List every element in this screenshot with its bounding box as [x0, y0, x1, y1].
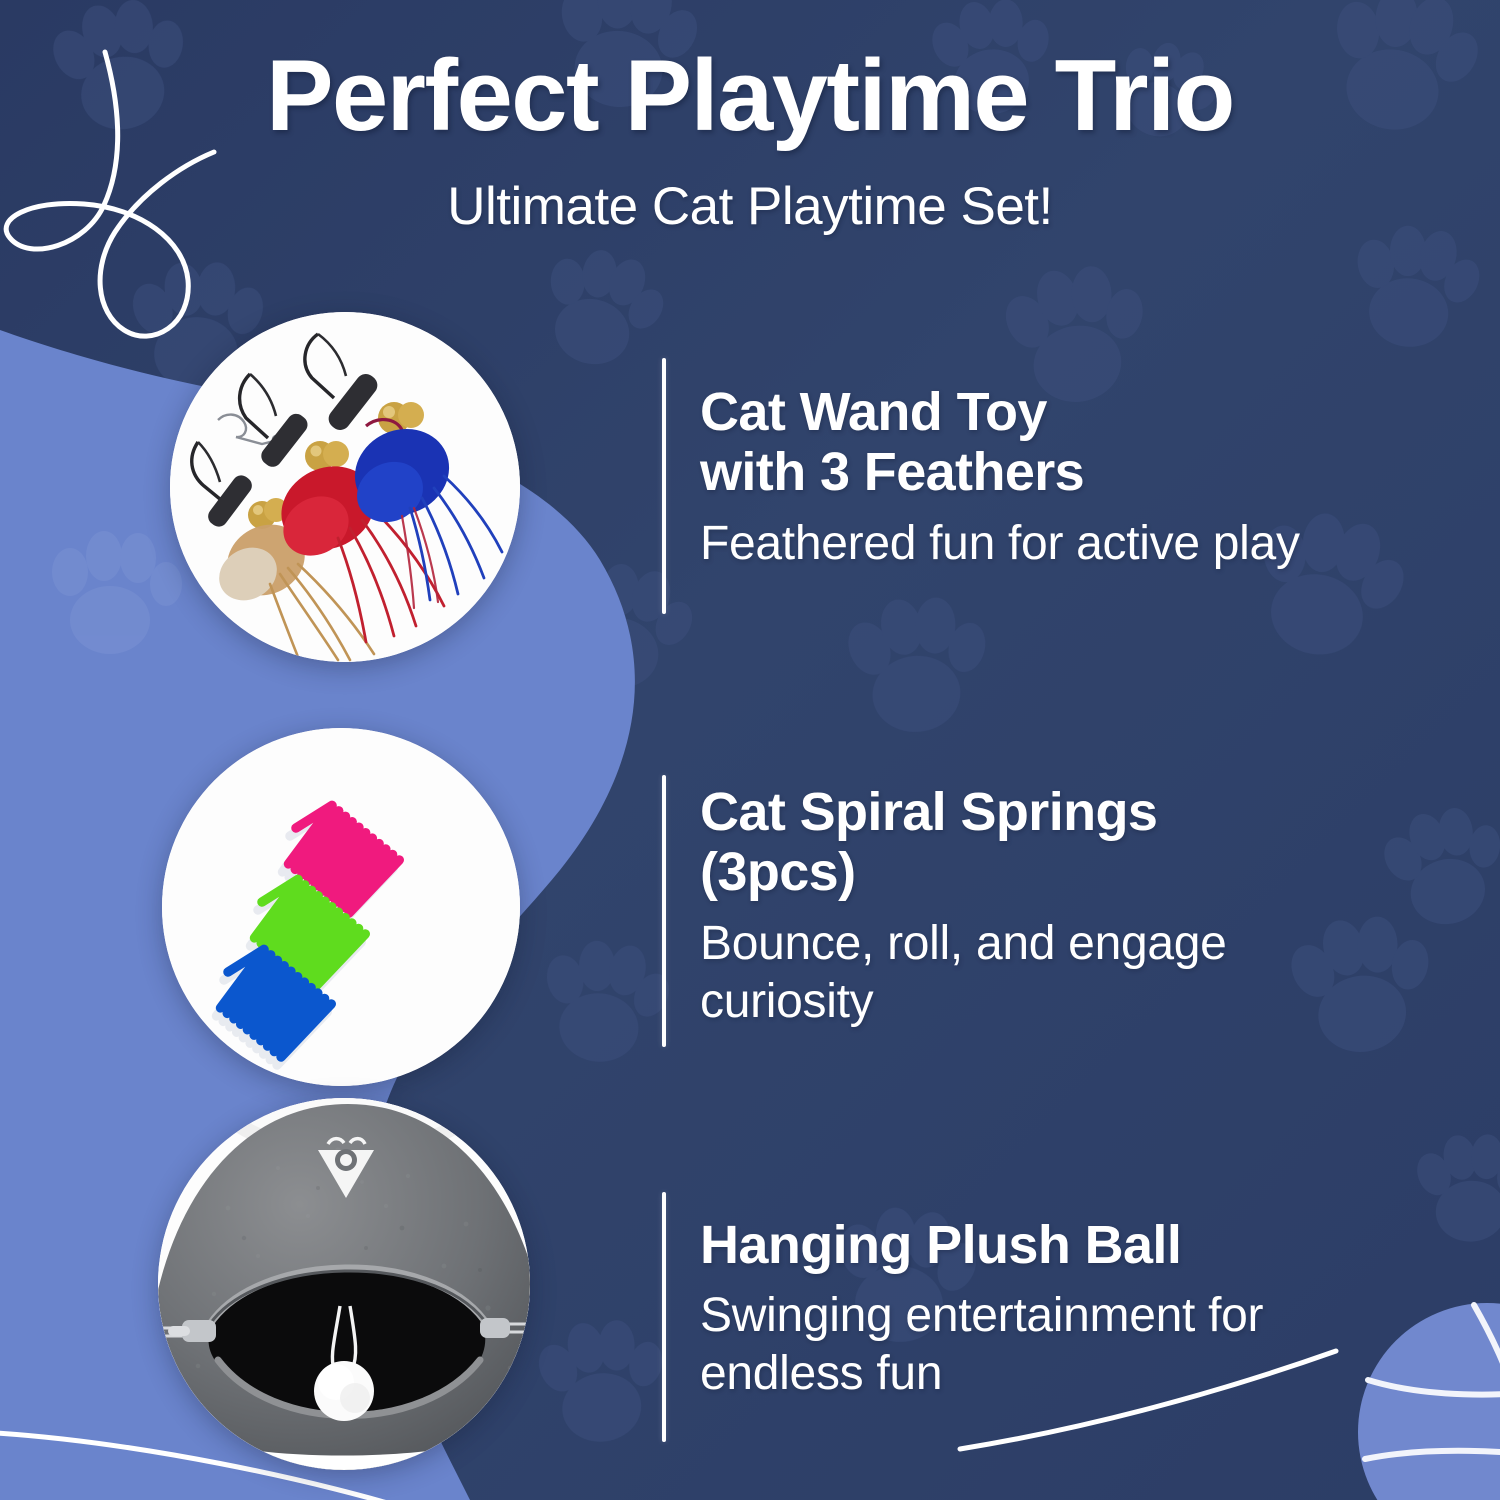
feature-description: Feathered fun for active play: [700, 503, 1300, 573]
feature-divider-3: [662, 1192, 666, 1442]
page-title: Perfect Playtime Trio: [0, 0, 1500, 147]
feature-title-line-1: Cat Spiral Springs: [700, 782, 1300, 842]
feature-photo-cat-wand-toy: [170, 312, 520, 662]
feature-title-line-2: with 3 Feathers: [700, 442, 1300, 502]
feature-title-line-1: Cat Wand Toy: [700, 382, 1300, 442]
feature-title-line-2: (3pcs): [700, 842, 1300, 902]
feature-photo-cat-spiral-springs: [162, 728, 520, 1086]
feature-text-cat-spiral-springs: Cat Spiral Springs (3pcs) Bounce, roll, …: [700, 782, 1300, 1030]
page-subtitle: Ultimate Cat Playtime Set!: [0, 147, 1500, 233]
header-block: Perfect Playtime Trio Ultimate Cat Playt…: [0, 0, 1500, 233]
feature-photo-hanging-plush-ball: [158, 1098, 530, 1470]
infographic-canvas: Perfect Playtime Trio Ultimate Cat Playt…: [0, 0, 1500, 1500]
feature-divider-2: [662, 775, 666, 1047]
feature-text-hanging-plush-ball: Hanging Plush Ball Swinging entertainmen…: [700, 1215, 1360, 1403]
feature-title-line-1: Hanging Plush Ball: [700, 1215, 1360, 1275]
feature-divider-1: [662, 358, 666, 614]
feature-description: Swinging entertainment for endless fun: [700, 1275, 1360, 1402]
yarn-ball-decoration: [1358, 1303, 1500, 1500]
feature-description: Bounce, roll, and engage curiosity: [700, 903, 1300, 1030]
feature-text-cat-wand-toy: Cat Wand Toy with 3 Feathers Feathered f…: [700, 382, 1300, 573]
